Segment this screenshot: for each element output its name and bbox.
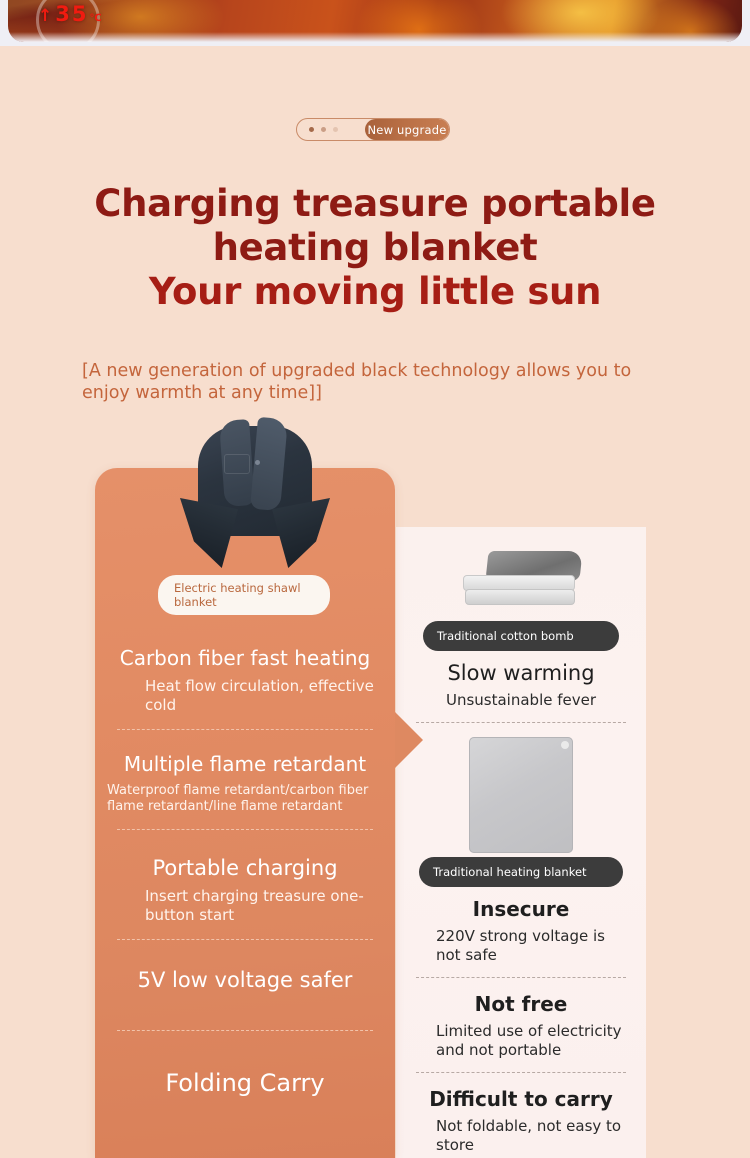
- badge-dot-icon: [333, 127, 338, 132]
- temperature-value: 35: [55, 2, 88, 26]
- page-title-line-3: Your moving little sun: [0, 270, 750, 314]
- comparison-item-title: Insecure: [410, 897, 632, 921]
- product-feature-desc: Waterproof flame retardant/carbon fiber …: [95, 783, 395, 815]
- top-banner-container: ↑ 35 ℃: [0, 0, 750, 46]
- banner-spacer: [0, 46, 750, 54]
- badge-dot-icon: [321, 127, 326, 132]
- product-feature-title: Carbon fiber fast heating: [95, 646, 395, 670]
- product-feature-item: Folding Carry: [95, 1069, 395, 1097]
- product-divider: [117, 729, 373, 730]
- product-feature-list: Carbon fiber fast heating Heat flow circ…: [95, 646, 395, 1097]
- new-upgrade-badge: New upgrade: [296, 118, 450, 141]
- temperature-readout: ↑ 35 ℃: [38, 2, 104, 26]
- comparison-item-desc: 220V strong voltage is not safe: [410, 927, 632, 965]
- comparison-arrow-icon: [395, 712, 423, 768]
- shawl-blanket-image: [180, 418, 330, 583]
- comparison-chip-label: Traditional heating blanket: [419, 857, 623, 887]
- product-divider: [117, 939, 373, 940]
- page-title: Charging treasure portable heating blank…: [0, 182, 750, 314]
- product-feature-item: Multiple flame retardant Waterproof flam…: [95, 752, 395, 815]
- comparison-item-title: Not free: [410, 992, 632, 1016]
- product-feature-title: Multiple flame retardant: [95, 752, 395, 776]
- product-divider: [117, 829, 373, 830]
- product-feature-title: Folding Carry: [95, 1069, 395, 1097]
- badge-dot-icon: [309, 127, 314, 132]
- product-feature-item: Carbon fiber fast heating Heat flow circ…: [95, 646, 395, 715]
- comparison-divider: [416, 722, 626, 723]
- comparison-divider: [416, 977, 626, 978]
- product-feature-desc: Heat flow circulation, effective cold: [95, 677, 395, 715]
- page-title-line-2: heating blanket: [0, 226, 750, 270]
- badge-label: New upgrade: [365, 119, 449, 140]
- flame-banner-image: ↑ 35 ℃: [8, 0, 742, 42]
- comparison-item-title: Slow warming: [410, 661, 632, 685]
- page-title-line-1: Charging treasure portable: [0, 182, 750, 226]
- product-feature-item: Portable charging Insert charging treasu…: [95, 856, 395, 925]
- comparison-divider: [416, 1072, 626, 1073]
- comparison-card: Traditional cotton bomb Slow warming Uns…: [396, 527, 646, 1158]
- product-feature-title: Portable charging: [95, 856, 395, 880]
- badge-dots: [297, 127, 365, 132]
- page-subtitle: [A new generation of upgraded black tech…: [82, 360, 662, 404]
- product-feature-item: 5V low voltage safer: [95, 968, 395, 992]
- product-feature-desc: Insert charging treasure one-button star…: [95, 887, 395, 925]
- traditional-cotton-blanket-image: [455, 545, 587, 617]
- temperature-unit: ℃: [89, 13, 103, 24]
- folded-blanket-illustration: [461, 551, 581, 611]
- temperature-up-arrow-icon: ↑: [38, 8, 54, 25]
- comparison-item-title: Difficult to carry: [410, 1087, 632, 1111]
- comparison-item-desc: Limited use of electricity and not porta…: [410, 1022, 632, 1060]
- comparison-chip-label: Traditional cotton bomb: [423, 621, 619, 651]
- comparison-item-desc: Unsustainable fever: [410, 691, 632, 710]
- traditional-heating-blanket-image: [469, 737, 573, 853]
- product-divider: [117, 1030, 373, 1031]
- product-feature-title: 5V low voltage safer: [95, 968, 395, 992]
- comparison-item-desc: Not foldable, not easy to store: [410, 1117, 632, 1155]
- product-chip-label: Electric heating shawl blanket: [158, 575, 330, 615]
- product-detail-page: ↑ 35 ℃ New upgrade Charging treasure por…: [0, 0, 750, 1158]
- banner-fade-overlay: [8, 32, 742, 42]
